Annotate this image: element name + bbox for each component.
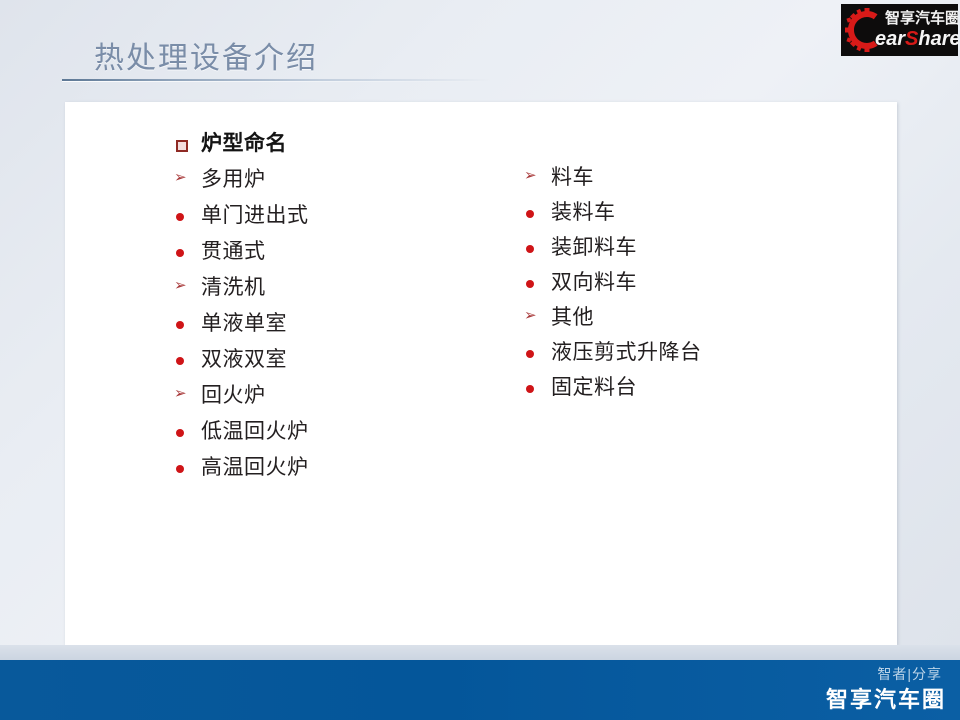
list-item: 装卸料车: [525, 234, 702, 269]
footer-bar: 智者|分享 智享汽车圈: [0, 660, 960, 720]
list-item: 低温回火炉: [175, 418, 309, 454]
list-item: 单液单室: [175, 310, 309, 346]
list-item: 料车: [525, 164, 702, 199]
list-item: 清洗机: [175, 274, 309, 310]
list-item: 装料车: [525, 199, 702, 234]
logo-chinese-text: 智享汽车圈: [885, 10, 958, 27]
list-item-label: 固定料台: [551, 374, 637, 402]
list-item-label: 单门进出式: [201, 202, 309, 230]
logo-en-part1: ear: [875, 28, 905, 50]
list-item-label: 其他: [551, 304, 594, 332]
list-item: 固定料台: [525, 374, 702, 409]
list-item-label: 装卸料车: [551, 234, 637, 262]
list-item: 双液双室: [175, 346, 309, 382]
list-item: 贯通式: [175, 238, 309, 274]
logo-english-text: earShare: [875, 28, 958, 50]
title-underline-highlight: [62, 81, 492, 82]
list-item-label: 单液单室: [201, 310, 287, 338]
list-column-right: 料车装料车装卸料车双向料车其他液压剪式升降台固定料台: [525, 164, 702, 409]
footer-brand: 智享汽车圈: [826, 682, 946, 714]
logo-en-highlight: S: [905, 28, 918, 50]
list-item: 液压剪式升降台: [525, 339, 702, 374]
list-item: 回火炉: [175, 382, 309, 418]
list-column-left: 炉型命名多用炉单门进出式贯通式清洗机单液单室双液双室回火炉低温回火炉高温回火炉: [175, 130, 309, 490]
list-item-label: 双向料车: [551, 269, 637, 297]
list-item: 其他: [525, 304, 702, 339]
list-item-label: 贯通式: [201, 238, 266, 266]
list-item: 多用炉: [175, 166, 309, 202]
brand-logo: 智享汽车圈 earShare: [841, 4, 958, 56]
list-item-label: 低温回火炉: [201, 418, 309, 446]
list-item-label: 高温回火炉: [201, 454, 309, 482]
list-item-label: 多用炉: [201, 166, 266, 194]
list-item: 双向料车: [525, 269, 702, 304]
list-item-label: 炉型命名: [201, 130, 287, 158]
list-item-label: 液压剪式升降台: [551, 339, 702, 367]
list-item-label: 料车: [551, 164, 594, 192]
list-item: 炉型命名: [175, 130, 309, 166]
slide-canvas: 智享汽车圈 earShare 热处理设备介绍 炉型命名多用炉单门进出式贯通式清洗…: [0, 0, 960, 720]
page-title: 热处理设备介绍: [94, 40, 318, 78]
list-item: 单门进出式: [175, 202, 309, 238]
list-item-label: 双液双室: [201, 346, 287, 374]
list-item: 高温回火炉: [175, 454, 309, 490]
footer-tagline: 智者|分享: [877, 664, 942, 684]
list-item-label: 清洗机: [201, 274, 266, 302]
list-item-label: 回火炉: [201, 382, 266, 410]
content-panel: 炉型命名多用炉单门进出式贯通式清洗机单液单室双液双室回火炉低温回火炉高温回火炉 …: [65, 102, 897, 645]
footer-separator: [0, 645, 960, 660]
list-item-label: 装料车: [551, 199, 616, 227]
logo-en-part2: hare: [918, 28, 958, 50]
